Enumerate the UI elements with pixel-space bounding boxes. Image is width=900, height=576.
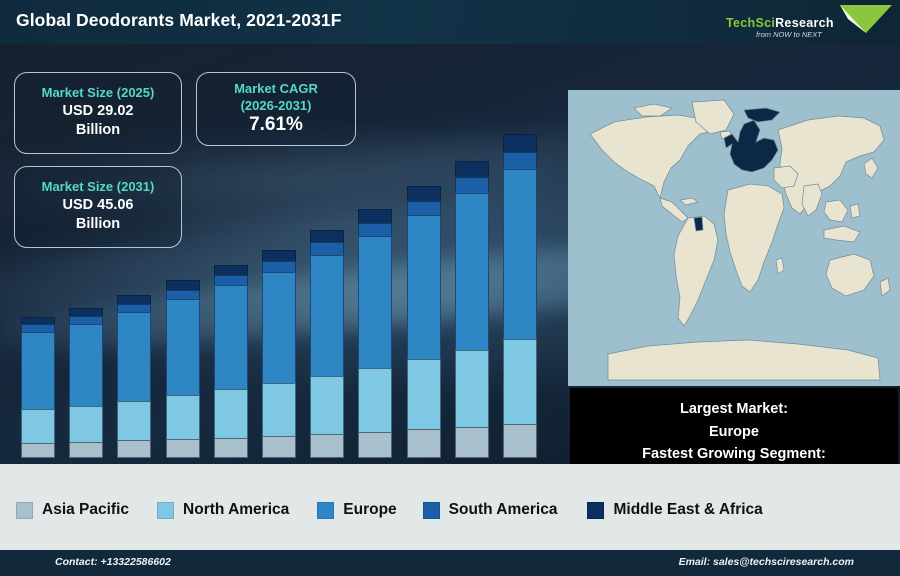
bar-segment-asia-pacific: [455, 427, 489, 458]
world-map: [568, 90, 900, 386]
legend-swatch-icon: [157, 502, 174, 519]
infographic-page: Global Deodorants Market, 2021-2031F Tec…: [0, 0, 900, 576]
bar-segment-asia-pacific: [166, 439, 200, 458]
footer-email: Email: sales@techsciresearch.com: [679, 556, 854, 568]
bar-segment-middle-east-africa: [214, 265, 248, 275]
legend-label: Europe: [343, 501, 396, 519]
bar-segment-south-america: [407, 201, 441, 216]
bar-segment-north-america: [214, 389, 248, 437]
bar-segment-south-america: [503, 152, 537, 170]
page-title: Global Deodorants Market, 2021-2031F: [16, 10, 342, 31]
techsci-research-logo: TechSciResearch from NOW to NEXT: [720, 3, 892, 43]
bar-segment-north-america: [358, 368, 392, 432]
legend-label: Middle East & Africa: [613, 501, 762, 519]
legend-item-south-america[interactable]: South America: [423, 501, 558, 519]
bar-segment-middle-east-africa: [117, 295, 151, 304]
bar-segment-south-america: [214, 275, 248, 285]
bar-segment-europe: [358, 236, 392, 368]
bar-segment-south-america: [166, 290, 200, 300]
bar-segment-europe: [503, 169, 537, 339]
bar-segment-asia-pacific: [69, 442, 103, 458]
legend-label: South America: [449, 501, 558, 519]
bar-segment-north-america: [117, 401, 151, 440]
bar-segment-europe: [455, 193, 489, 350]
land-philippines: [850, 204, 860, 218]
legend-item-europe[interactable]: Europe: [317, 501, 396, 519]
bar-segment-europe: [166, 299, 200, 395]
bar-segment-north-america: [21, 409, 55, 443]
bar-2021[interactable]: [21, 317, 55, 458]
bar-segment-europe: [262, 272, 296, 384]
bar-segment-south-america: [21, 324, 55, 331]
bar-segment-asia-pacific: [21, 443, 55, 458]
bar-segment-south-america: [117, 304, 151, 313]
world-map-svg: [568, 90, 900, 386]
bar-2029F[interactable]: [407, 186, 441, 458]
legend-item-asia-pacific[interactable]: Asia Pacific: [16, 501, 129, 519]
bar-segment-europe: [310, 255, 344, 376]
bar-segment-europe: [214, 285, 248, 389]
bar-segment-europe: [117, 312, 151, 400]
legend-item-middle-east-africa[interactable]: Middle East & Africa: [587, 501, 762, 519]
bar-segment-north-america: [310, 376, 344, 434]
bar-segment-middle-east-africa: [503, 134, 537, 152]
bar-segment-middle-east-africa: [21, 317, 55, 324]
bar-segment-north-america: [503, 339, 537, 425]
bar-segment-asia-pacific: [503, 424, 537, 458]
stacked-bar-chart: [0, 44, 568, 458]
bar-segment-middle-east-africa: [407, 186, 441, 201]
bar-2030F[interactable]: [455, 161, 489, 458]
bar-segment-asia-pacific: [214, 438, 248, 458]
fastest-segment-label: Fastest Growing Segment:: [642, 443, 826, 464]
bar-segment-north-america: [455, 350, 489, 428]
bar-segment-asia-pacific: [117, 440, 151, 458]
bar-segment-europe: [69, 324, 103, 406]
bar-segment-south-america: [69, 316, 103, 324]
bar-segment-middle-east-africa: [455, 161, 489, 177]
legend-swatch-icon: [317, 502, 334, 519]
logo-wordmark: TechSciResearch: [726, 16, 834, 30]
bar-segment-asia-pacific: [310, 434, 344, 458]
bar-segment-middle-east-africa: [358, 209, 392, 222]
bar-segment-north-america: [166, 395, 200, 439]
highlight-box: Largest Market: Europe Fastest Growing S…: [570, 388, 898, 464]
bar-segment-asia-pacific: [262, 436, 296, 458]
chart-legend: Asia PacificNorth AmericaEuropeSouth Ame…: [0, 486, 900, 534]
legend-label: North America: [183, 501, 289, 519]
bar-segment-middle-east-africa: [310, 230, 344, 242]
legend-item-north-america[interactable]: North America: [157, 501, 289, 519]
legend-swatch-icon: [16, 502, 33, 519]
main-panel: Market Size (2025) USD 29.02 Billion Mar…: [0, 44, 900, 464]
bar-segment-middle-east-africa: [262, 250, 296, 261]
logo-text-research: Research: [775, 16, 834, 30]
bar-2022[interactable]: [69, 308, 103, 458]
bar-segment-north-america: [69, 406, 103, 442]
bar-segment-north-america: [407, 359, 441, 429]
bar-segment-south-america: [455, 177, 489, 193]
bar-segment-south-america: [262, 261, 296, 272]
largest-market-label: Largest Market:: [680, 398, 788, 420]
bar-segment-europe: [407, 215, 441, 359]
header-bar: Global Deodorants Market, 2021-2031F Tec…: [0, 0, 900, 44]
land-guyana-highlight: [694, 217, 703, 231]
bar-segment-south-america: [358, 223, 392, 236]
logo-tagline: from NOW to NEXT: [756, 30, 822, 39]
footer-contact: Contact: +13322586602: [55, 556, 171, 568]
largest-market-value: Europe: [709, 421, 759, 443]
bar-2031F[interactable]: [503, 134, 537, 458]
legend-label: Asia Pacific: [42, 501, 129, 519]
legend-swatch-icon: [423, 502, 440, 519]
bar-2027F[interactable]: [310, 230, 344, 458]
bar-2023[interactable]: [117, 295, 151, 458]
bar-segment-middle-east-africa: [69, 308, 103, 316]
logo-text-techsci: TechSci: [726, 16, 775, 30]
legend-swatch-icon: [587, 502, 604, 519]
bar-segment-asia-pacific: [407, 429, 441, 458]
footer-bar: Contact: +13322586602 Email: sales@techs…: [0, 550, 900, 576]
bar-2026E[interactable]: [262, 250, 296, 458]
bar-segment-north-america: [262, 383, 296, 436]
bar-2028F[interactable]: [358, 209, 392, 458]
bar-segment-europe: [21, 332, 55, 410]
bar-segment-middle-east-africa: [166, 280, 200, 290]
bar-2025[interactable]: [214, 265, 248, 458]
bar-2024[interactable]: [166, 280, 200, 458]
bar-segment-asia-pacific: [358, 432, 392, 458]
bar-segment-south-america: [310, 242, 344, 254]
